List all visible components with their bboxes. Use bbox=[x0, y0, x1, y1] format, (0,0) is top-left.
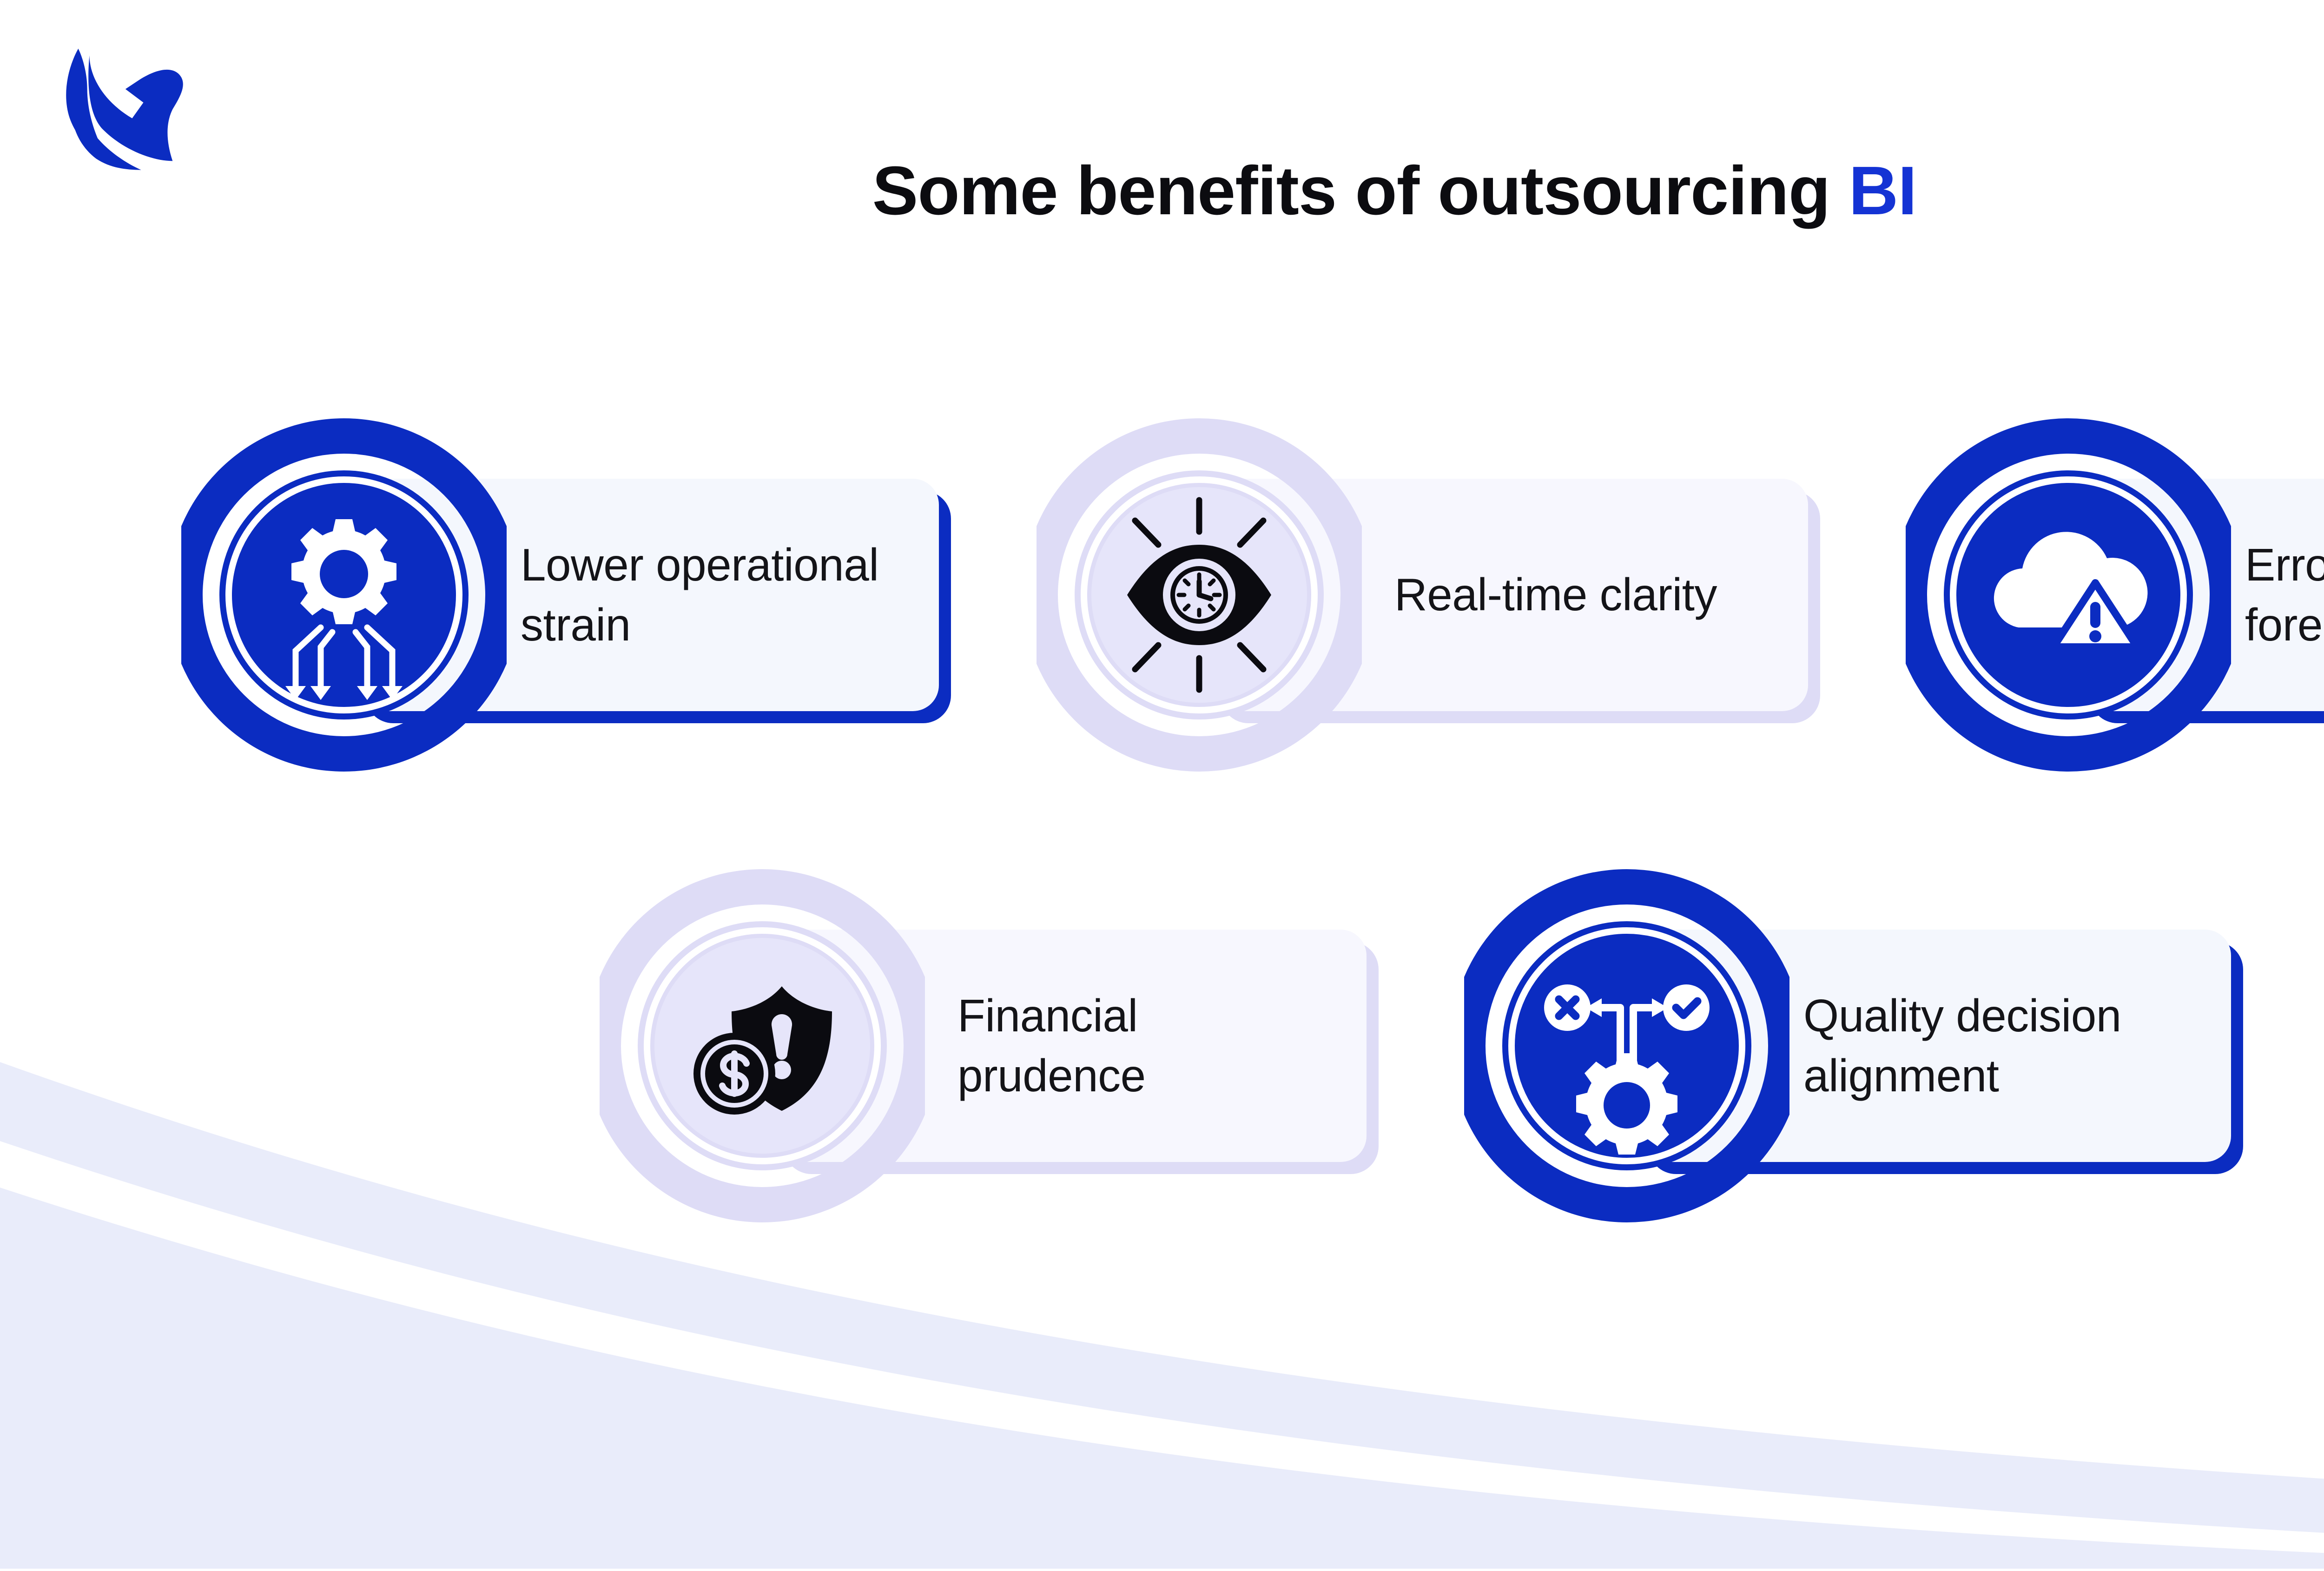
benefits-row-top: Lower operational strain bbox=[0, 409, 2324, 781]
page-title-accent: BI bbox=[1849, 152, 1916, 229]
coin-shield-alert-icon bbox=[600, 860, 925, 1232]
benefit-label: Error-free forecasting bbox=[2245, 535, 2324, 655]
benefit-label: Lower operational strain bbox=[521, 535, 902, 655]
benefit-item-error-free-forecasting[interactable]: Error-free forecasting bbox=[1906, 409, 2324, 781]
gear-with-down-arrows-icon bbox=[181, 409, 507, 781]
eagle-logo-icon[interactable] bbox=[56, 44, 191, 170]
page-title: Some benefits of outsourcing BI bbox=[0, 153, 2324, 229]
page-title-main: Some benefits of outsourcing bbox=[872, 152, 1849, 229]
benefit-item-financial-prudence[interactable]: Financial prudence bbox=[600, 860, 1367, 1232]
benefits-grid: Lower operational strain bbox=[0, 409, 2324, 1232]
gear-decision-branch-icon bbox=[1464, 860, 1789, 1232]
benefits-row-bottom: Financial prudence bbox=[0, 860, 2324, 1232]
eye-with-clock-icon bbox=[1037, 409, 1362, 781]
benefit-item-quality-decision-alignment[interactable]: Quality decision alignment bbox=[1464, 860, 2231, 1232]
benefit-item-lower-operational-strain[interactable]: Lower operational strain bbox=[181, 409, 939, 781]
benefit-label: Financial prudence bbox=[957, 986, 1329, 1106]
benefit-label: Real-time clarity bbox=[1394, 565, 1717, 625]
cloud-warning-icon bbox=[1906, 409, 2231, 781]
benefit-label: Quality decision alignment bbox=[1803, 986, 2194, 1106]
benefit-item-real-time-clarity[interactable]: Real-time clarity bbox=[1037, 409, 1808, 781]
